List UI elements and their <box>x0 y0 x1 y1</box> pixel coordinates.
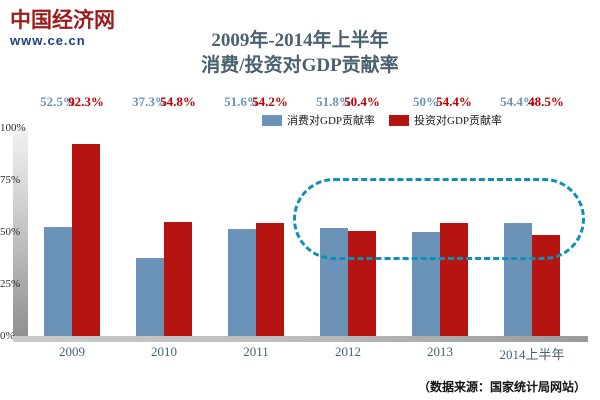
bar-group: 52.5%92.3% <box>44 110 100 336</box>
bar-wrapper: 52.5% <box>44 110 72 336</box>
y-axis-tick: 100% <box>0 122 34 134</box>
bar-wrapper: 50% <box>412 110 440 336</box>
bar-investment[interactable]: 54.2% <box>256 223 284 336</box>
bar-wrapper: 37.3% <box>136 110 164 336</box>
bar-group: 37.3%54.8% <box>136 110 192 336</box>
bar-group: 51.8%50.4% <box>320 110 376 336</box>
bar-investment[interactable]: 54.8% <box>164 222 192 336</box>
bar-investment[interactable]: 48.5% <box>532 235 560 336</box>
bar-wrapper: 51.6% <box>228 110 256 336</box>
bar-group: 50%54.4% <box>412 110 468 336</box>
y-axis-tick: 25% <box>0 278 34 290</box>
bar-value-label: 54.2% <box>252 95 288 109</box>
bar-value-label: 92.3% <box>68 95 104 109</box>
logo-brand-text: 中国经济网 <box>10 8 130 32</box>
x-axis-category-label: 2014上半年 <box>492 344 572 363</box>
bar-value-label: 48.5% <box>528 95 564 109</box>
bar-value-label: 50% <box>413 95 439 109</box>
bar-wrapper: 54.2% <box>256 110 284 336</box>
bar-wrapper: 48.5% <box>532 110 560 336</box>
bar-consumption[interactable]: 52.5% <box>44 227 72 336</box>
x-axis-category-label: 2009 <box>32 344 112 360</box>
bar-group: 51.6%54.2% <box>228 110 284 336</box>
bar-value-label: 50.4% <box>344 95 380 109</box>
bar-investment[interactable]: 92.3% <box>72 144 100 336</box>
bar-consumption[interactable]: 54.4% <box>504 223 532 336</box>
bar-investment[interactable]: 50.4% <box>348 231 376 336</box>
x-axis-category-label: 2010 <box>124 344 204 360</box>
bar-groups: 52.5%92.3%37.3%54.8%51.6%54.2%51.8%50.4%… <box>36 110 588 336</box>
bar-value-label: 54.4% <box>436 95 472 109</box>
bar-wrapper: 54.8% <box>164 110 192 336</box>
bar-wrapper: 50.4% <box>348 110 376 336</box>
bar-wrapper: 92.3% <box>72 110 100 336</box>
chart-title-line-2: 消费/投资对GDP贡献率 <box>150 53 450 78</box>
bar-wrapper: 54.4% <box>440 110 468 336</box>
bar-wrapper: 51.8% <box>320 110 348 336</box>
data-source-note: （数据来源：国家统计局网站） <box>418 378 586 395</box>
y-axis-tick: 75% <box>0 174 34 186</box>
bar-consumption[interactable]: 51.8% <box>320 228 348 336</box>
plot-area: 0%25%50%75%100% 52.5%92.3%37.3%54.8%51.6… <box>0 110 600 342</box>
chart-root: 中国经济网 www.ce.cn 2009年-2014年上半年 消费/投资对GDP… <box>0 0 600 400</box>
bar-consumption[interactable]: 37.3% <box>136 258 164 336</box>
x-axis-category-label: 2013 <box>400 344 480 360</box>
y-axis-tick: 50% <box>0 226 34 238</box>
bar-investment[interactable]: 54.4% <box>440 223 468 336</box>
logo-url-text: www.ce.cn <box>10 33 130 49</box>
bar-group: 54.4%48.5% <box>504 110 560 336</box>
chart-title: 2009年-2014年上半年 消费/投资对GDP贡献率 <box>150 28 450 78</box>
x-axis-category-label: 2012 <box>308 344 388 360</box>
x-axis-category-labels: 200920102011201220132014上半年 <box>36 344 588 366</box>
bar-consumption[interactable]: 50% <box>412 232 440 336</box>
site-logo[interactable]: 中国经济网 www.ce.cn <box>10 8 130 54</box>
x-axis-category-label: 2011 <box>216 344 296 360</box>
bar-wrapper: 54.4% <box>504 110 532 336</box>
bar-consumption[interactable]: 51.6% <box>228 229 256 336</box>
bar-value-label: 54.8% <box>160 95 196 109</box>
chart-title-line-1: 2009年-2014年上半年 <box>150 28 450 53</box>
x-axis-baseline <box>13 336 588 342</box>
